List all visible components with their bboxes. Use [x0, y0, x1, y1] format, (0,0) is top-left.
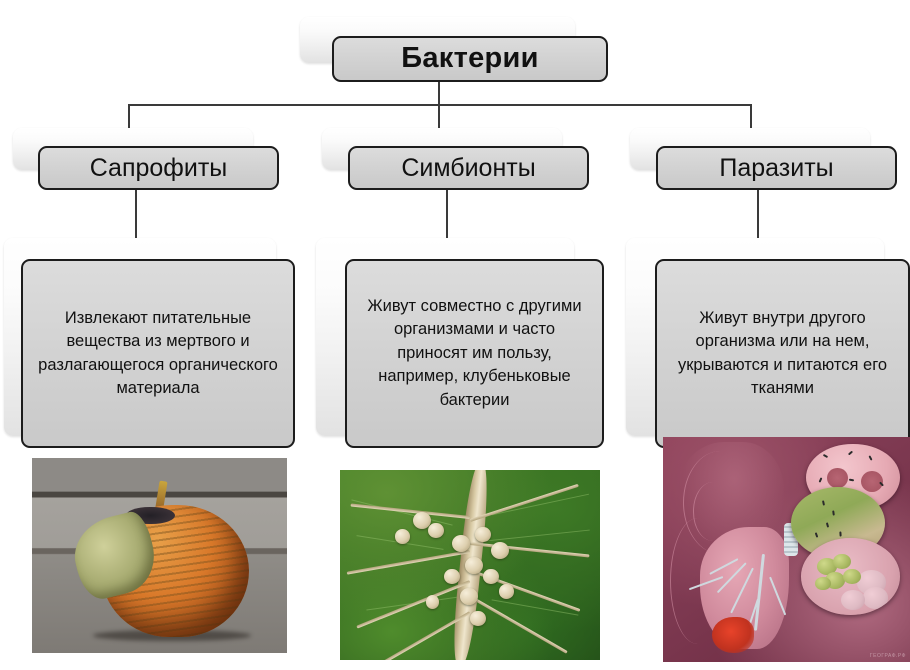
bacillus [815, 532, 819, 537]
description-parasites-text: Живут внутри другого организма или на не… [667, 307, 898, 401]
lung-infection-area [712, 617, 754, 653]
root-nodule [499, 584, 515, 599]
leaf-vein [486, 529, 590, 541]
root-nodule [444, 569, 460, 584]
bacillus [847, 450, 852, 455]
root-node-bacteria[interactable]: Бактерии [332, 36, 608, 82]
bacillus [823, 453, 828, 457]
description-saprophytes-text: Извлекают питательные вещества из мертво… [33, 307, 283, 401]
alveolus [863, 587, 889, 608]
category-symbionts-label: Симбионты [401, 153, 535, 184]
description-symbionts-text: Живут совместно с другими организмами и … [357, 295, 592, 412]
description-node-saprophytes[interactable]: Извлекают питательные вещества из мертво… [21, 259, 295, 448]
diagram-canvas: Бактерии Сапрофиты Симбионты Паразиты Из… [0, 0, 910, 670]
bacillus [826, 522, 829, 527]
root-nodule [483, 569, 499, 584]
bacterial-cluster [833, 554, 851, 569]
bacillus [869, 456, 873, 461]
category-saprophytes-label: Сапрофиты [90, 153, 228, 184]
root-nodule [426, 595, 439, 608]
category-parasites-label: Паразиты [719, 153, 833, 184]
bacillus [818, 477, 822, 482]
bacillus [822, 501, 825, 506]
root-nodule [460, 588, 478, 605]
connector-parasites-to-desc [757, 190, 759, 240]
bacillus [849, 479, 854, 482]
root-nodule [395, 529, 411, 544]
tissue-pore [827, 468, 848, 488]
connector-root-down [438, 80, 440, 106]
root-node-label: Бактерии [401, 41, 539, 76]
lateral-root [351, 503, 470, 518]
infected-lungs-illustration: ГЕОГРАФ.РФ [663, 437, 910, 662]
rotting-apple-photo [32, 458, 287, 653]
bacterial-cluster [843, 569, 861, 584]
legume-root-nodules-photo [340, 470, 600, 660]
bacillus [840, 531, 842, 536]
bacteria-inset-alveoli [801, 538, 900, 615]
connector-saprophytes-to-desc [135, 190, 137, 240]
alveolus [841, 590, 865, 610]
root-nodule [475, 527, 491, 542]
bacillus [832, 511, 835, 516]
connector-symbionts-to-desc [446, 190, 448, 240]
description-node-parasites[interactable]: Живут внутри другого организма или на не… [655, 259, 910, 448]
lateral-root [470, 542, 589, 557]
bacterial-cluster [815, 577, 831, 591]
root-nodule [491, 542, 509, 559]
connector-horizontal-bus [128, 104, 752, 106]
root-nodule [428, 523, 444, 538]
leaf-vein [491, 599, 578, 615]
root-nodule [470, 611, 486, 626]
category-node-parasites[interactable]: Паразиты [656, 146, 897, 190]
watermark-text: ГЕОГРАФ.РФ [870, 653, 906, 659]
root-nodule [452, 535, 470, 552]
category-node-saprophytes[interactable]: Сапрофиты [38, 146, 279, 190]
category-node-symbionts[interactable]: Симбионты [348, 146, 589, 190]
description-node-symbionts[interactable]: Живут совместно с другими организмами и … [345, 259, 604, 448]
